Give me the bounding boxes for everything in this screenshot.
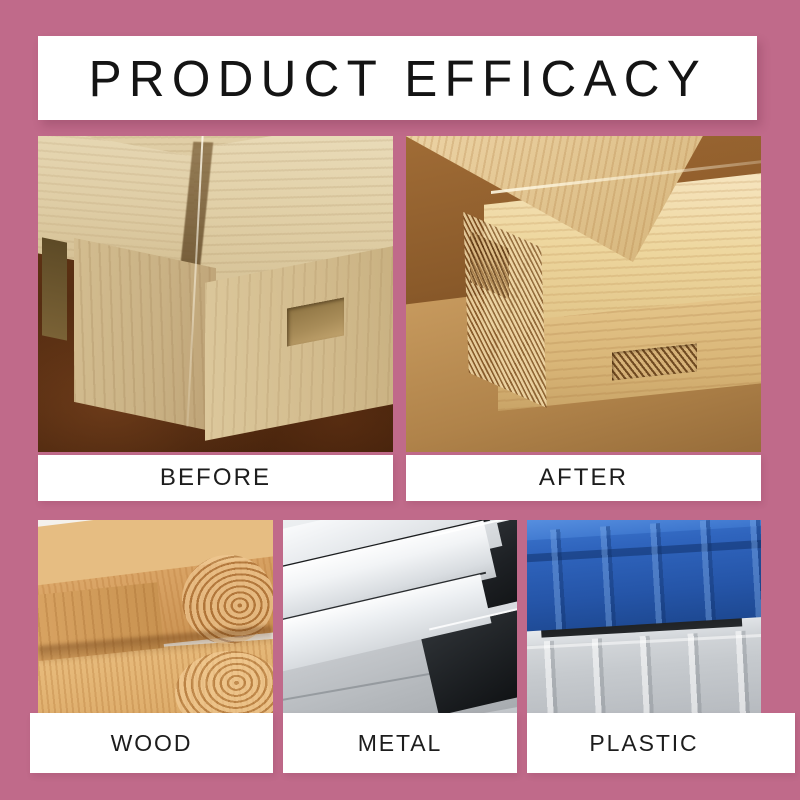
after-label: AFTER	[539, 466, 628, 490]
plastic-photo	[527, 520, 761, 713]
plastic-label: PLASTIC	[589, 732, 698, 755]
page-title: PRODUCT EFFICACY	[88, 53, 706, 104]
metal-photo	[283, 520, 517, 713]
plastic-label-bar: PLASTIC	[527, 713, 795, 773]
before-photo	[38, 136, 393, 452]
page-title-banner: PRODUCT EFFICACY	[38, 36, 757, 120]
metal-label: METAL	[358, 732, 442, 755]
after-label-bar: AFTER	[406, 455, 761, 501]
poster-canvas: PRODUCT EFFICACY BEFORE AFTER	[0, 0, 800, 800]
after-photo	[406, 136, 761, 452]
wood-label-bar: WOOD	[30, 713, 273, 773]
wood-photo	[38, 520, 273, 713]
before-label-bar: BEFORE	[38, 455, 393, 501]
before-mortise-slot-left	[42, 238, 67, 341]
plastic-blue-crate-ribs	[527, 520, 761, 632]
before-label: BEFORE	[160, 466, 271, 490]
metal-label-bar: METAL	[283, 713, 517, 773]
wood-label: WOOD	[111, 732, 193, 755]
